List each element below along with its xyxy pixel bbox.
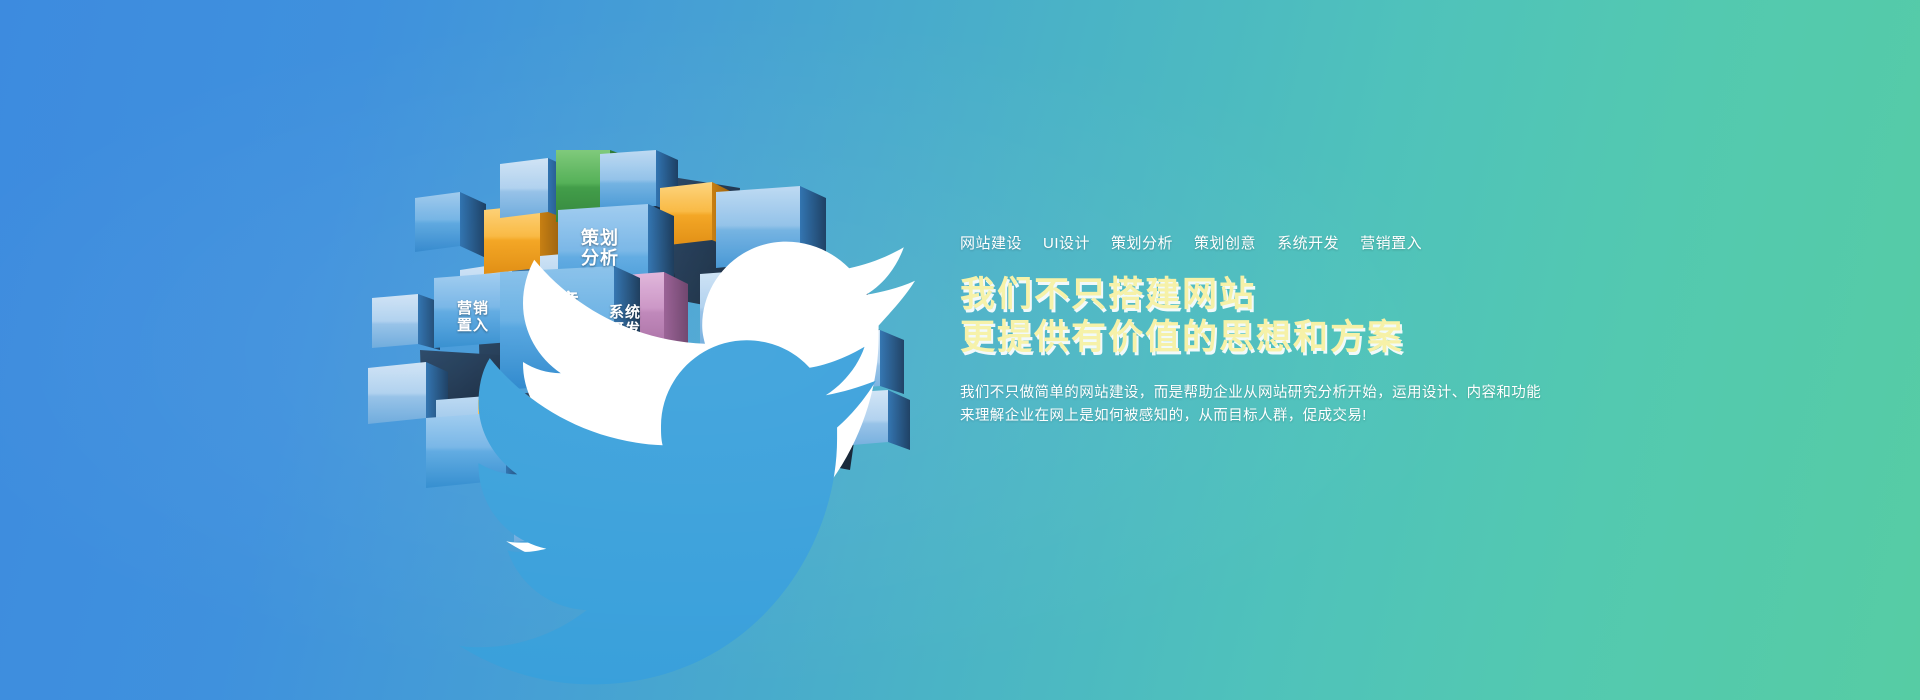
- nav-item-planning-analysis[interactable]: 策划分析: [1111, 232, 1173, 253]
- nav-item-marketing-placement[interactable]: 营销置入: [1360, 232, 1422, 253]
- headline-line-1: 我们不只搭建网站: [960, 273, 1680, 316]
- nav-item-planning-creative[interactable]: 策划创意: [1194, 232, 1256, 253]
- banner-content: 网站建设 UI设计 策划分析 策划创意 系统开发 营销置入 我们不只搭建网站 更…: [960, 232, 1680, 429]
- service-nav: 网站建设 UI设计 策划分析 策划创意 系统开发 营销置入: [960, 232, 1680, 253]
- cube-pink-lower-right: [734, 406, 806, 466]
- headline-line-2: 更提供有价值的思想和方案: [960, 316, 1680, 359]
- nav-item-website-construction[interactable]: 网站建设: [960, 232, 1022, 253]
- nav-item-ui-design[interactable]: UI设计: [1043, 232, 1090, 253]
- body-paragraph: 我们不只做简单的网站建设，而是帮助企业从网站研究分析开始，运用设计、内容和功能 …: [960, 382, 1680, 429]
- hero-banner: 创意 设计 策划 分析 营销 置入 系统 研发 网站建设 UI设计 策划分析 策…: [0, 0, 1920, 700]
- cube-blue-lower-left-2: [426, 412, 528, 490]
- body-line-2: 来理解企业在网上是如何被感知的，从而目标人群，促成交易!: [960, 405, 1680, 428]
- body-line-1: 我们不只做简单的网站建设，而是帮助企业从网站研究分析开始，运用设计、内容和功能: [960, 382, 1680, 405]
- cube-pale-bottom-center: [514, 444, 618, 542]
- cube-chuangyi-sheji: [500, 266, 640, 392]
- nav-item-system-development[interactable]: 系统开发: [1277, 232, 1339, 253]
- cube-cluster-illustration: 创意 设计 策划 分析 营销 置入 系统 研发: [360, 150, 960, 570]
- headline: 我们不只搭建网站 更提供有价值的思想和方案: [960, 273, 1680, 360]
